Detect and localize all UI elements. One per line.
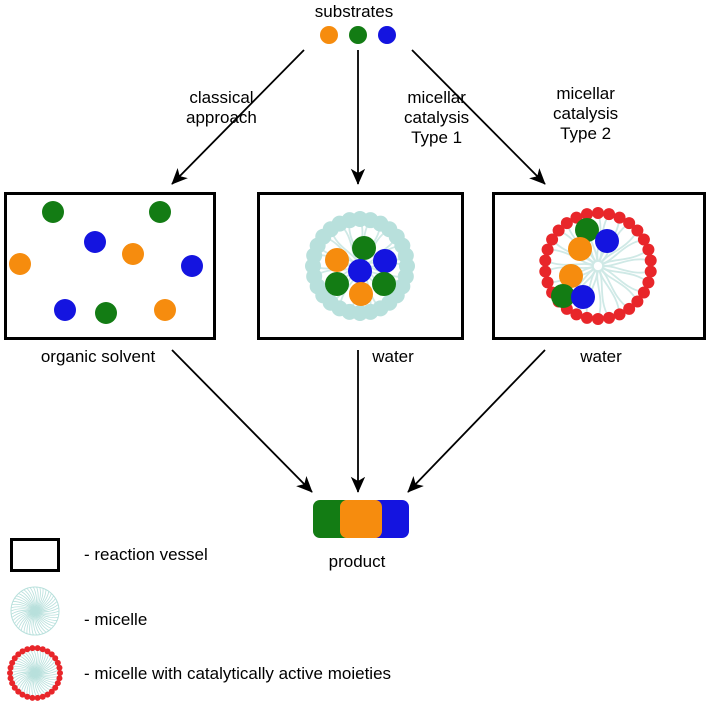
product-bar — [313, 500, 409, 538]
micelle-active-graphic — [524, 192, 672, 340]
arrow-organic-to-product — [172, 350, 312, 492]
substrate-dot-orange — [154, 299, 176, 321]
vessel-caption-organic-solvent: organic solvent — [41, 347, 155, 367]
substrate-dot-blue — [84, 231, 106, 253]
substrate-dot-green — [42, 201, 64, 223]
substrate-dot-green — [95, 302, 117, 324]
legend-label-micelle-active: - micelle with catalytically active moie… — [84, 664, 391, 684]
arrow-label-micellar-type2: micellar catalysis Type 2 — [553, 84, 618, 144]
vessel-caption-water-type2: water — [580, 347, 622, 367]
arrow-label-classical-approach: classical approach — [186, 88, 257, 128]
legend-label-reaction-vessel: - reaction vessel — [84, 545, 208, 565]
vessel-caption-water-type1: water — [372, 347, 414, 367]
product-caption: product — [329, 552, 386, 572]
arrow-label-micellar-type1: micellar catalysis Type 1 — [404, 88, 469, 148]
substrate-dot-orange — [568, 237, 592, 261]
legend-micelle-active-icon — [4, 642, 66, 701]
substrate-dot-blue — [595, 229, 619, 253]
substrate-dot-green — [325, 272, 349, 296]
substrate-dot-green — [372, 272, 396, 296]
substrate-dot-green — [149, 201, 171, 223]
product-segment-orange — [340, 500, 382, 538]
substrates-title: substrates — [315, 2, 393, 22]
substrate-dot-orange — [349, 282, 373, 306]
substrate-dot-blue — [378, 26, 396, 44]
substrate-dot-blue — [181, 255, 203, 277]
arrow-water2-to-product — [408, 350, 545, 492]
legend-reaction-vessel-icon — [10, 538, 60, 572]
substrate-dot-orange — [320, 26, 338, 44]
substrate-dot-blue — [571, 285, 595, 309]
legend-label-micelle: - micelle — [84, 610, 147, 630]
substrate-dot-orange — [325, 248, 349, 272]
substrate-dot-orange — [9, 253, 31, 275]
substrate-dot-blue — [54, 299, 76, 321]
substrate-dot-green — [349, 26, 367, 44]
substrate-dot-orange — [122, 243, 144, 265]
substrate-dot-green — [352, 236, 376, 260]
legend-micelle-icon — [4, 580, 66, 642]
diagram-canvas: substrates classical approach micellar c… — [0, 0, 708, 701]
substrate-dot-blue — [373, 249, 397, 273]
substrate-dot-blue — [348, 259, 372, 283]
